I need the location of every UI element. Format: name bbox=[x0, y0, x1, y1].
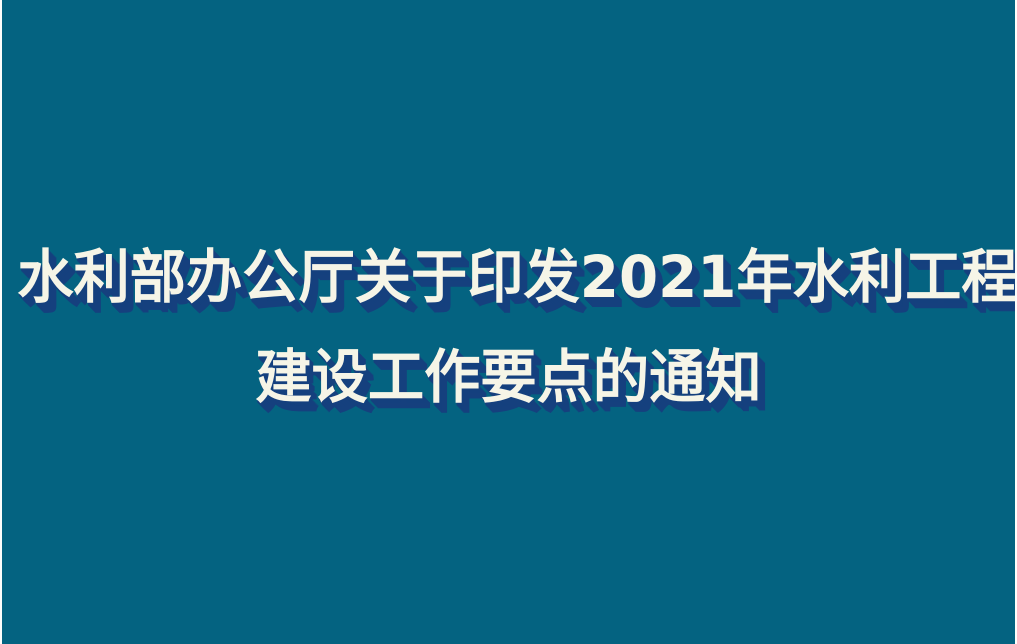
title-banner: 水利部办公厅关于印发2021年水利工程 建设工作要点的通知 bbox=[0, 0, 1017, 644]
page-title: 水利部办公厅关于印发2021年水利工程 建设工作要点的通知 bbox=[2, 227, 1015, 427]
title-line-2: 建设工作要点的通知 bbox=[17, 327, 1000, 427]
title-line-1: 水利部办公厅关于印发2021年水利工程 bbox=[17, 227, 1000, 327]
